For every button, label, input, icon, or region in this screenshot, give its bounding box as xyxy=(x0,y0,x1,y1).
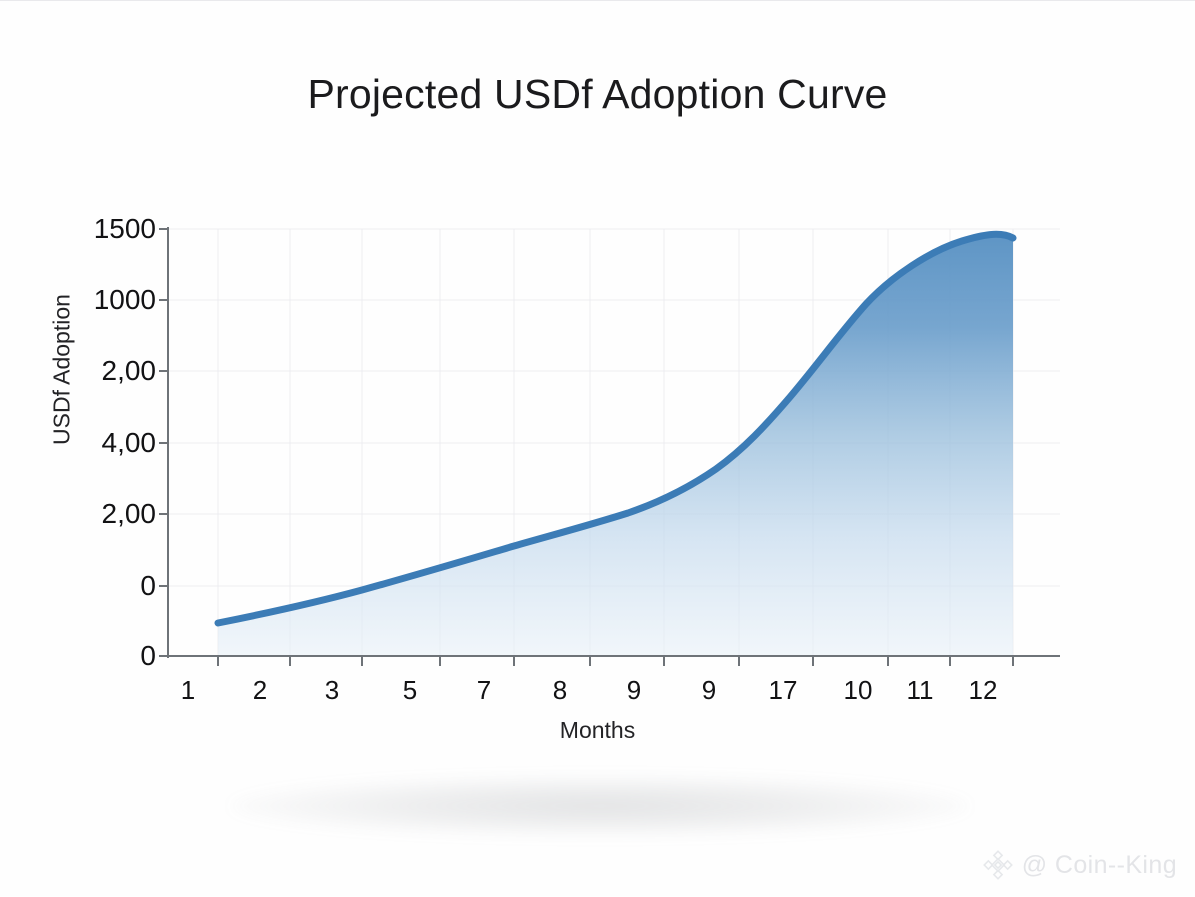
x-tick-label-5: 8 xyxy=(530,675,590,706)
x-tick-label-4: 7 xyxy=(454,675,514,706)
x-tick-label-0: 1 xyxy=(158,675,218,706)
y-tick-label-1: 1000 xyxy=(6,284,156,316)
y-tick-label-0: 1500 xyxy=(6,213,156,245)
x-tick-label-1: 2 xyxy=(230,675,290,706)
y-tick-label-6: 0 xyxy=(6,640,156,672)
x-tick-label-9: 10 xyxy=(828,675,888,706)
x-tick-label-7: 9 xyxy=(679,675,739,706)
area-fill xyxy=(218,234,1013,656)
x-tick-label-11: 12 xyxy=(953,675,1013,706)
chart-card: Projected USDf Adoption Curve xyxy=(0,0,1195,896)
y-tick-label-3: 4,00 xyxy=(6,427,156,459)
y-tick-label-4: 2,00 xyxy=(6,498,156,530)
y-axis-ticks xyxy=(159,229,168,656)
y-tick-label-2: 2,00 xyxy=(6,355,156,387)
x-tick-label-10: 11 xyxy=(890,675,950,706)
x-tick-label-8: 17 xyxy=(753,675,813,706)
area-chart-svg xyxy=(0,1,1195,897)
plot-area: 1500 1000 2,00 4,00 2,00 0 0 1 2 3 5 7 8… xyxy=(0,1,1195,897)
x-tick-label-3: 5 xyxy=(380,675,440,706)
x-tick-label-6: 9 xyxy=(604,675,664,706)
x-tick-label-2: 3 xyxy=(302,675,362,706)
y-tick-label-5: 0 xyxy=(6,570,156,602)
y-axis-title: USDf Adoption xyxy=(49,270,76,470)
x-axis-title: Months xyxy=(0,717,1195,744)
x-axis-ticks xyxy=(218,656,1013,666)
